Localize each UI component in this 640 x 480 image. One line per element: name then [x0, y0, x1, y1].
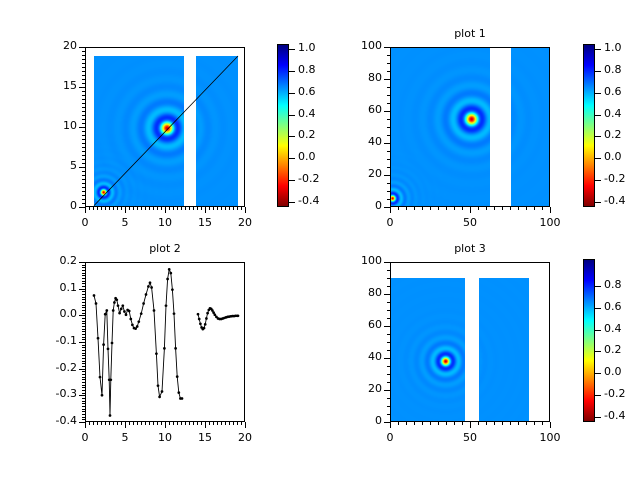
- xtick-label: 20: [215, 216, 275, 229]
- colorbar-bottom-right: [583, 259, 595, 422]
- xtick-minor: [510, 422, 511, 425]
- ytick-minor: [82, 393, 85, 394]
- ytick-label: 20: [19, 39, 77, 52]
- data-point-marker: [177, 391, 180, 394]
- xtick-minor: [406, 207, 407, 210]
- data-point-marker: [134, 327, 137, 330]
- ytick-minor: [82, 302, 85, 303]
- xtick-minor: [414, 207, 415, 210]
- ytick-minor: [82, 203, 85, 204]
- ytick-minor: [82, 267, 85, 268]
- ytick-minor: [82, 107, 85, 108]
- colorbar-tick-label: 0.6: [604, 300, 640, 313]
- xtick-minor: [225, 422, 226, 425]
- ytick-minor: [387, 326, 390, 327]
- xtick-minor: [422, 207, 423, 210]
- data-point-marker: [153, 309, 156, 312]
- xtick-minor: [229, 207, 230, 210]
- xtick-minor: [205, 207, 206, 210]
- ytick-minor: [82, 159, 85, 160]
- ytick-label: 60: [324, 103, 382, 116]
- colorbar-top-left: [277, 44, 289, 207]
- data-point-marker: [237, 314, 240, 317]
- ytick-label: 80: [324, 286, 382, 299]
- xtick-minor: [494, 422, 495, 425]
- xtick-minor: [165, 422, 166, 425]
- data-point-marker: [104, 313, 107, 316]
- plot-title-bottom-left: plot 2: [85, 242, 245, 255]
- colorbar-gradient: [584, 260, 594, 421]
- xtick-minor: [209, 422, 210, 425]
- ytick-minor: [82, 175, 85, 176]
- ytick-minor: [82, 83, 85, 84]
- xtick-minor: [478, 422, 479, 425]
- ytick-minor: [82, 299, 85, 300]
- xtick-minor: [430, 207, 431, 210]
- ytick-minor: [82, 55, 85, 56]
- ytick-minor: [387, 207, 390, 208]
- axes-frame-top-right: [390, 47, 550, 207]
- ytick-minor: [82, 179, 85, 180]
- xtick-minor: [534, 207, 535, 210]
- ytick-minor: [387, 358, 390, 359]
- ytick-label: 100: [324, 39, 382, 52]
- ytick-minor: [387, 95, 390, 96]
- colorbar-tick: [595, 158, 601, 159]
- ytick-minor: [387, 350, 390, 351]
- ytick-minor: [82, 337, 85, 338]
- ytick-label: 40: [324, 135, 382, 148]
- axes-frame-bottom-left: [85, 262, 245, 422]
- xtick-minor: [550, 422, 551, 425]
- colorbar-tick-label: 0.2: [604, 128, 640, 141]
- data-point-marker: [107, 348, 110, 351]
- ytick-minor: [82, 207, 85, 208]
- ytick-label: 60: [324, 318, 382, 331]
- xtick-minor: [438, 207, 439, 210]
- colorbar-tick: [289, 202, 295, 203]
- ytick-minor: [82, 353, 85, 354]
- data-point-marker: [131, 324, 134, 327]
- ytick-minor: [82, 339, 85, 340]
- xtick-minor: [149, 207, 150, 210]
- ytick-minor: [387, 270, 390, 271]
- xtick-minor: [221, 207, 222, 210]
- data-point-marker: [101, 394, 104, 397]
- data-point-marker: [199, 322, 202, 325]
- xtick-minor: [181, 207, 182, 210]
- ytick-minor: [387, 87, 390, 88]
- ytick-minor: [82, 183, 85, 184]
- colorbar-tick: [595, 395, 601, 396]
- xtick-minor: [486, 207, 487, 210]
- colorbar-tick: [595, 330, 601, 331]
- ytick-minor: [82, 361, 85, 362]
- xtick-minor: [145, 422, 146, 425]
- xtick-minor: [542, 207, 543, 210]
- xtick-minor: [181, 422, 182, 425]
- ytick-minor: [387, 199, 390, 200]
- xtick-minor: [213, 422, 214, 425]
- ytick-label: 15: [19, 79, 77, 92]
- ytick-minor: [82, 294, 85, 295]
- ytick-minor: [82, 422, 85, 423]
- ytick-minor: [387, 111, 390, 112]
- ytick-minor: [82, 342, 85, 343]
- ytick-label: -0.2: [19, 361, 77, 374]
- ytick-minor: [387, 422, 390, 423]
- xtick-minor: [117, 422, 118, 425]
- xtick-minor: [217, 422, 218, 425]
- colorbar-tick: [595, 286, 601, 287]
- data-point-marker: [140, 312, 143, 315]
- ytick-minor: [82, 350, 85, 351]
- colorbar-tick: [595, 49, 601, 50]
- xtick-minor: [454, 207, 455, 210]
- ytick-minor: [82, 310, 85, 311]
- ytick-minor: [82, 406, 85, 407]
- ytick-label: 0: [19, 199, 77, 212]
- ytick-minor: [82, 278, 85, 279]
- xtick-minor: [233, 422, 234, 425]
- ytick-minor: [82, 326, 85, 327]
- xtick-minor: [129, 422, 130, 425]
- ytick-minor: [82, 398, 85, 399]
- colorbar-tick-label: 0.0: [604, 150, 640, 163]
- xtick-minor: [446, 207, 447, 210]
- heatmap-patch: [391, 278, 465, 422]
- data-point-marker: [213, 313, 216, 316]
- ytick-minor: [82, 281, 85, 282]
- ytick-minor: [387, 374, 390, 375]
- xtick-minor: [169, 422, 170, 425]
- xtick-minor: [518, 422, 519, 425]
- ytick-minor: [82, 151, 85, 152]
- data-point-marker: [147, 285, 150, 288]
- xtick-minor: [470, 422, 471, 425]
- data-point-marker: [117, 304, 120, 307]
- ytick-label: 5: [19, 159, 77, 172]
- ytick-minor: [82, 87, 85, 88]
- colorbar-tick-label: 0.6: [604, 85, 640, 98]
- data-point-marker: [120, 308, 123, 311]
- colorbar-tick: [595, 136, 601, 137]
- ytick-minor: [82, 147, 85, 148]
- ytick-minor: [82, 334, 85, 335]
- colorbar-tick-label: -0.4: [604, 194, 640, 207]
- ytick-minor: [387, 103, 390, 104]
- xtick-minor: [153, 422, 154, 425]
- data-point-marker: [206, 312, 209, 315]
- ytick-minor: [82, 187, 85, 188]
- xtick-minor: [129, 207, 130, 210]
- ytick-minor: [82, 262, 85, 263]
- xtick-minor: [165, 207, 166, 210]
- ytick-minor: [82, 297, 85, 298]
- ytick-minor: [82, 315, 85, 316]
- xtick-minor: [438, 422, 439, 425]
- data-point-marker: [204, 323, 207, 326]
- ytick-minor: [82, 313, 85, 314]
- xtick-minor: [133, 422, 134, 425]
- ytick-label: -0.1: [19, 334, 77, 347]
- colorbar-tick-label: 0.0: [298, 150, 344, 163]
- ytick-minor: [82, 331, 85, 332]
- xtick-label: 20: [215, 431, 275, 444]
- ytick-minor: [82, 366, 85, 367]
- ytick-minor: [82, 171, 85, 172]
- data-point-marker: [157, 384, 160, 387]
- data-point-marker: [109, 414, 112, 417]
- ytick-minor: [82, 291, 85, 292]
- colorbar-tick-label: 0.6: [298, 85, 344, 98]
- ytick-minor: [82, 71, 85, 72]
- ytick-minor: [387, 342, 390, 343]
- xtick-minor: [201, 207, 202, 210]
- ytick-minor: [82, 414, 85, 415]
- colorbar-tick: [289, 180, 295, 181]
- ytick-minor: [387, 119, 390, 120]
- xtick-minor: [213, 207, 214, 210]
- data-point-marker: [161, 390, 164, 393]
- axes-frame-bottom-right: [390, 262, 550, 422]
- ytick-minor: [387, 318, 390, 319]
- ytick-minor: [82, 51, 85, 52]
- colorbar-tick: [595, 308, 601, 309]
- colorbar-tick-label: 1.0: [604, 41, 640, 54]
- heatmap-patch: [479, 278, 529, 422]
- ytick-minor: [82, 270, 85, 271]
- xtick-minor: [185, 422, 186, 425]
- ytick-minor: [82, 401, 85, 402]
- colorbar-tick-label: 0.4: [604, 322, 640, 335]
- xtick-minor: [237, 422, 238, 425]
- xtick-minor: [462, 422, 463, 425]
- xtick-minor: [502, 207, 503, 210]
- ytick-minor: [82, 115, 85, 116]
- ytick-minor: [82, 75, 85, 76]
- ytick-minor: [82, 139, 85, 140]
- xtick-minor: [193, 422, 194, 425]
- data-point-marker: [174, 347, 177, 350]
- ytick-minor: [82, 119, 85, 120]
- xtick-minor: [221, 422, 222, 425]
- ytick-minor: [387, 262, 390, 263]
- ytick-minor: [387, 159, 390, 160]
- ytick-minor: [82, 411, 85, 412]
- xtick-minor: [93, 207, 94, 210]
- heatmap-patch: [391, 48, 490, 207]
- ytick-minor: [82, 355, 85, 356]
- ytick-minor: [82, 167, 85, 168]
- xtick-minor: [97, 207, 98, 210]
- ytick-minor: [387, 414, 390, 415]
- data-point-marker: [93, 294, 96, 297]
- xtick-minor: [189, 422, 190, 425]
- ytick-label: -0.3: [19, 387, 77, 400]
- xtick-minor: [173, 207, 174, 210]
- colorbar-tick-label: -0.2: [604, 387, 640, 400]
- ytick-minor: [387, 151, 390, 152]
- data-point-marker: [115, 298, 118, 301]
- data-point-marker: [203, 327, 206, 330]
- data-point-marker: [173, 312, 176, 315]
- ytick-minor: [387, 191, 390, 192]
- ytick-minor: [82, 329, 85, 330]
- xtick-minor: [157, 207, 158, 210]
- colorbar-tick: [595, 351, 601, 352]
- ytick-minor: [387, 55, 390, 56]
- colorbar-tick-label: -0.2: [604, 172, 640, 185]
- xtick-minor: [398, 207, 399, 210]
- ytick-minor: [82, 79, 85, 80]
- xtick-minor: [205, 422, 206, 425]
- heatmap-patch: [94, 56, 184, 206]
- ytick-minor: [82, 191, 85, 192]
- xtick-minor: [157, 422, 158, 425]
- ytick-minor: [82, 358, 85, 359]
- data-point-marker: [97, 337, 100, 340]
- xtick-minor: [113, 422, 114, 425]
- colorbar-gradient: [584, 45, 594, 206]
- xtick-minor: [85, 422, 86, 425]
- xtick-minor: [241, 207, 242, 210]
- xtick-minor: [105, 422, 106, 425]
- xtick-minor: [518, 207, 519, 210]
- data-point-marker: [163, 347, 166, 350]
- ytick-minor: [82, 377, 85, 378]
- xtick-minor: [201, 422, 202, 425]
- ytick-minor: [82, 321, 85, 322]
- xtick-minor: [237, 207, 238, 210]
- data-point-marker: [142, 302, 145, 305]
- xtick-minor: [550, 207, 551, 210]
- xtick-minor: [85, 207, 86, 210]
- ytick-minor: [387, 366, 390, 367]
- ytick-minor: [387, 390, 390, 391]
- xtick-minor: [486, 422, 487, 425]
- colorbar-tick: [595, 202, 601, 203]
- xtick-minor: [454, 422, 455, 425]
- xtick-minor: [105, 207, 106, 210]
- ytick-minor: [82, 195, 85, 196]
- data-point-marker: [109, 378, 112, 381]
- xtick-label: 50: [440, 216, 500, 229]
- xtick-minor: [125, 207, 126, 210]
- ytick-minor: [387, 334, 390, 335]
- data-point-marker: [105, 309, 108, 312]
- xtick-minor: [526, 207, 527, 210]
- ytick-minor: [82, 59, 85, 60]
- colorbar-tick-label: 0.8: [604, 63, 640, 76]
- colorbar-tick: [289, 158, 295, 159]
- ytick-minor: [387, 143, 390, 144]
- axes-frame-top-left: [85, 47, 245, 207]
- xtick-minor: [233, 207, 234, 210]
- xtick-minor: [101, 207, 102, 210]
- ytick-minor: [82, 275, 85, 276]
- xtick-minor: [121, 422, 122, 425]
- colorbar-tick-label: -0.4: [604, 409, 640, 422]
- colorbar-tick-label: 0.0: [604, 365, 640, 378]
- ytick-minor: [82, 417, 85, 418]
- ytick-label: 20: [324, 167, 382, 180]
- ytick-minor: [82, 95, 85, 96]
- heatmap-patch: [511, 48, 550, 207]
- ytick-minor: [387, 398, 390, 399]
- colorbar-tick: [595, 93, 601, 94]
- data-point-marker: [181, 397, 184, 400]
- ytick-minor: [82, 379, 85, 380]
- xtick-minor: [141, 207, 142, 210]
- xtick-minor: [414, 422, 415, 425]
- ytick-minor: [82, 265, 85, 266]
- ytick-minor: [82, 409, 85, 410]
- xtick-minor: [149, 422, 150, 425]
- ytick-minor: [82, 289, 85, 290]
- xtick-minor: [225, 207, 226, 210]
- ytick-label: 0.0: [19, 307, 77, 320]
- ytick-label: 40: [324, 350, 382, 363]
- xtick-label: 50: [440, 431, 500, 444]
- ytick-label: 0: [324, 414, 382, 427]
- xtick-minor: [89, 422, 90, 425]
- xtick-minor: [510, 207, 511, 210]
- xtick-minor: [137, 422, 138, 425]
- ytick-label: 10: [19, 119, 77, 132]
- xtick-label: 100: [520, 216, 580, 229]
- xtick-minor: [390, 207, 391, 210]
- line-path: [94, 269, 182, 415]
- ytick-minor: [82, 135, 85, 136]
- ytick-minor: [387, 286, 390, 287]
- colorbar-gradient: [278, 45, 288, 206]
- xtick-minor: [446, 422, 447, 425]
- colorbar-tick: [595, 115, 601, 116]
- xtick-minor: [177, 422, 178, 425]
- xtick-label: 0: [360, 216, 420, 229]
- ytick-minor: [82, 307, 85, 308]
- ytick-minor: [82, 286, 85, 287]
- xtick-minor: [494, 207, 495, 210]
- xtick-minor: [209, 207, 210, 210]
- colorbar-tick: [289, 49, 295, 50]
- data-point-marker: [123, 310, 126, 313]
- data-point-marker: [118, 312, 121, 315]
- xtick-minor: [185, 207, 186, 210]
- ytick-label: 0.2: [19, 254, 77, 267]
- xtick-minor: [193, 207, 194, 210]
- ytick-minor: [387, 63, 390, 64]
- data-point-marker: [128, 310, 131, 313]
- xtick-minor: [390, 422, 391, 425]
- xtick-minor: [406, 422, 407, 425]
- data-point-marker: [125, 313, 128, 316]
- colorbar-tick: [595, 373, 601, 374]
- xtick-minor: [542, 422, 543, 425]
- figure-canvas: 05101520051015201.00.80.60.40.20.0-0.2-0…: [0, 0, 640, 480]
- colorbar-tick: [289, 136, 295, 137]
- ytick-label: 0.1: [19, 281, 77, 294]
- ytick-label: 80: [324, 71, 382, 84]
- ytick-minor: [82, 419, 85, 420]
- data-point-marker: [102, 343, 105, 346]
- ytick-minor: [82, 163, 85, 164]
- xtick-minor: [145, 207, 146, 210]
- data-point-marker: [129, 318, 132, 321]
- data-point-marker: [121, 304, 124, 307]
- xtick-minor: [97, 422, 98, 425]
